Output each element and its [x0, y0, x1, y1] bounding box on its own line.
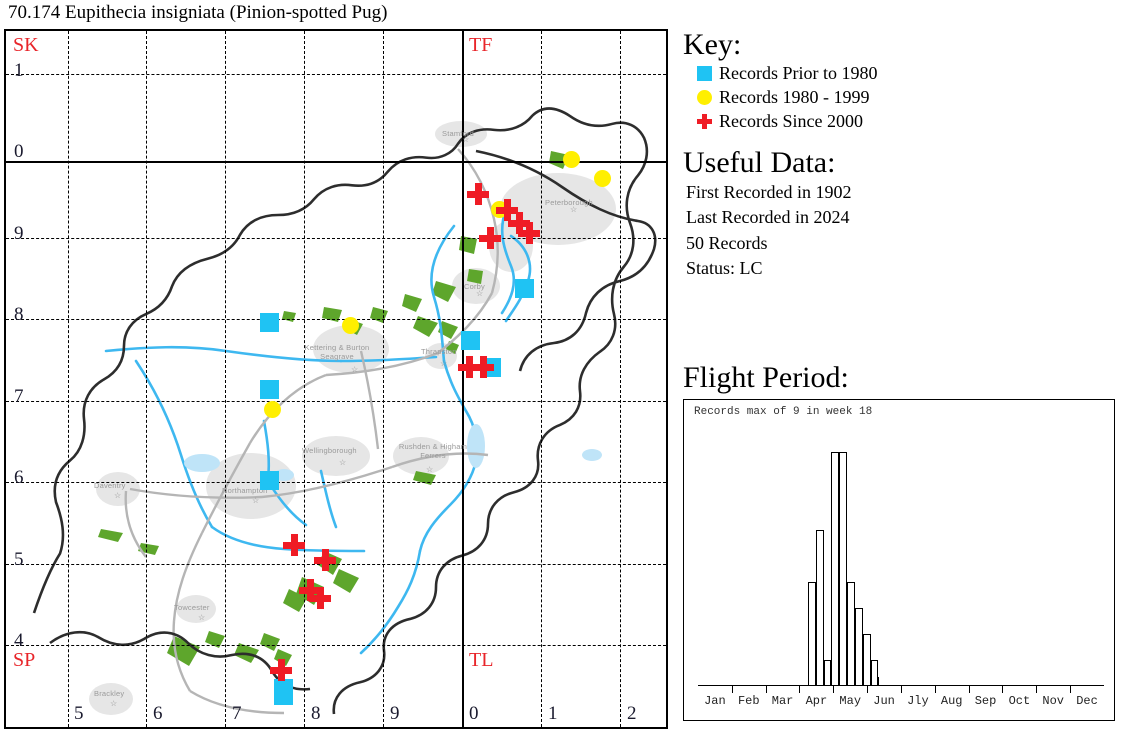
useful-data-last-recorded: Last Recorded in 2024: [686, 205, 1123, 231]
town-marker-icon: ☆: [476, 289, 483, 298]
record-marker-1980-1999[interactable]: [594, 170, 611, 187]
flight-period-note: Records max of 9 in week 18: [694, 406, 872, 418]
record-marker-since2000[interactable]: [309, 587, 331, 609]
town-label: Stamford: [442, 129, 474, 138]
page-title: 70.174 Eupithecia insigniata (Pinion-spo…: [8, 2, 387, 24]
map-y-label-0: 0: [14, 141, 24, 163]
map-corner-label-sk: SK: [13, 34, 39, 57]
map-gridline-h: [6, 319, 666, 320]
record-marker-pre1980[interactable]: [260, 380, 279, 399]
record-marker-pre1980[interactable]: [260, 471, 279, 490]
histogram-bar: [863, 634, 871, 686]
histogram-bar: [808, 582, 816, 686]
record-marker-since2000[interactable]: [518, 222, 540, 244]
map-y-label-8: 8: [14, 304, 24, 326]
square-marker-icon: [689, 66, 719, 81]
cross-marker-icon: [689, 114, 719, 129]
month-label-jan: Jan: [698, 686, 732, 716]
town-marker-icon: ☆: [351, 365, 358, 374]
town-marker-icon: ☆: [339, 458, 346, 467]
histogram-plot-area: [698, 436, 1104, 686]
histogram-bar: [871, 660, 879, 686]
key-heading: Key:: [683, 29, 1123, 61]
town-label: Towcester: [174, 603, 210, 612]
town-marker-icon: ☆: [198, 613, 205, 622]
map-canvas[interactable]: SK TF SP TL 1 0 9 8 7 6 5 4 5 6 7 8 9 0 …: [6, 31, 666, 727]
town-label: Peterborough: [545, 198, 593, 207]
map-x-label-8: 8: [311, 703, 321, 725]
histogram-bar: [816, 530, 824, 686]
map-x-label-6: 6: [153, 703, 163, 725]
map-x-label-7: 7: [232, 703, 242, 725]
record-marker-since2000[interactable]: [472, 356, 494, 378]
month-label-nov: Nov: [1036, 686, 1070, 716]
map-x-label-2: 2: [627, 703, 637, 725]
map-gridline-h: [6, 74, 666, 75]
month-label-apr: Apr: [799, 686, 833, 716]
month-label-may: May: [833, 686, 867, 716]
map-y-label-7: 7: [14, 386, 24, 408]
record-marker-pre1980[interactable]: [260, 313, 279, 332]
map-gridline-h: [6, 564, 666, 565]
month-label-aug: Aug: [935, 686, 969, 716]
key-item-label: Records 1980 - 1999: [719, 87, 869, 108]
town-marker-icon: ☆: [114, 491, 121, 500]
month-label-sep: Sep: [969, 686, 1003, 716]
map-gridline-v: [68, 31, 69, 727]
key-item-label: Records Since 2000: [719, 111, 863, 132]
town-label: Rushden & Higham Ferrers: [396, 443, 470, 460]
circle-marker-icon: [689, 90, 719, 105]
map-gridline-v: [383, 31, 384, 727]
map-gridline-v: [541, 31, 542, 727]
useful-data-heading: Useful Data:: [683, 147, 1123, 179]
record-marker-pre1980[interactable]: [515, 279, 534, 298]
histogram-bar: [839, 452, 847, 686]
map-gridline-v: [304, 31, 305, 727]
record-marker-pre1980[interactable]: [274, 679, 293, 705]
histogram-bar: [847, 582, 855, 686]
month-label-oct: Oct: [1002, 686, 1036, 716]
town-marker-icon: ☆: [462, 135, 469, 144]
month-label-mar: Mar: [766, 686, 800, 716]
map-x-label-9: 9: [390, 703, 400, 725]
town-label: Kettering & Burton Seagrave: [294, 344, 380, 361]
town-label: Brackley: [94, 689, 124, 698]
flight-period-heading: Flight Period:: [683, 362, 849, 394]
key-item-label: Records Prior to 1980: [719, 63, 877, 84]
record-marker-1980-1999[interactable]: [563, 151, 580, 168]
map-corner-label-sp: SP: [13, 649, 35, 672]
record-marker-pre1980[interactable]: [461, 331, 480, 350]
record-marker-since2000[interactable]: [479, 227, 501, 249]
map-y-label-4: 4: [14, 630, 24, 652]
month-axis: Jan Feb Mar Apr May Jun Jly Aug Sep Oct …: [698, 685, 1104, 716]
map-x-label-0: 0: [469, 703, 479, 725]
town-marker-icon: ☆: [252, 496, 259, 505]
town-label: Thrapston: [421, 347, 457, 356]
record-marker-1980-1999[interactable]: [264, 401, 281, 418]
map-y-label-1: 1: [14, 60, 24, 82]
map-corner-label-tl: TL: [469, 649, 493, 672]
map-gridline-h: [6, 401, 666, 402]
info-sidebar: Key: Records Prior to 1980 Records 1980 …: [683, 29, 1123, 729]
map-gridline-h: [6, 645, 666, 646]
town-label: Daventry: [94, 481, 126, 490]
record-marker-since2000[interactable]: [314, 549, 336, 571]
record-marker-since2000[interactable]: [283, 534, 305, 556]
record-marker-since2000[interactable]: [270, 659, 292, 681]
useful-data-status: Status: LC: [686, 256, 1123, 282]
map-y-label-6: 6: [14, 467, 24, 489]
month-label-dec: Dec: [1070, 686, 1104, 716]
record-marker-since2000[interactable]: [467, 183, 489, 205]
distribution-map-panel[interactable]: SK TF SP TL 1 0 9 8 7 6 5 4 5 6 7 8 9 0 …: [4, 29, 668, 729]
key-item-pre1980: Records Prior to 1980: [689, 61, 1123, 85]
record-marker-1980-1999[interactable]: [342, 317, 359, 334]
map-y-label-9: 9: [14, 223, 24, 245]
map-corner-label-tf: TF: [469, 34, 492, 57]
map-gridline-v: [225, 31, 226, 727]
useful-data-record-count: 50 Records: [686, 231, 1123, 257]
histogram-bar: [831, 452, 839, 686]
town-marker-icon: ☆: [570, 205, 577, 214]
map-gridline-v: [620, 31, 621, 727]
key-item-since2000: Records Since 2000: [689, 109, 1123, 133]
histogram-bar: [824, 660, 832, 686]
map-basemap-icon: [6, 31, 666, 727]
month-label-jun: Jun: [867, 686, 901, 716]
town-marker-icon: ☆: [426, 465, 433, 474]
town-label: Wellingborough: [302, 446, 357, 455]
flight-period-chart[interactable]: Records max of 9 in week 18 Jan Feb Mar …: [683, 399, 1115, 721]
town-marker-icon: ☆: [110, 699, 117, 708]
map-gridline-h: [6, 238, 666, 239]
map-y-label-5: 5: [14, 549, 24, 571]
month-label-feb: Feb: [732, 686, 766, 716]
histogram-bar: [855, 608, 863, 686]
map-x-label-1: 1: [548, 703, 558, 725]
key-item-1980-1999: Records 1980 - 1999: [689, 85, 1123, 109]
useful-data-first-recorded: First Recorded in 1902: [686, 180, 1123, 206]
map-gridline-v: [146, 31, 147, 727]
map-x-label-5: 5: [74, 703, 84, 725]
month-label-jly: Jly: [901, 686, 935, 716]
town-marker-icon: ☆: [440, 359, 447, 368]
